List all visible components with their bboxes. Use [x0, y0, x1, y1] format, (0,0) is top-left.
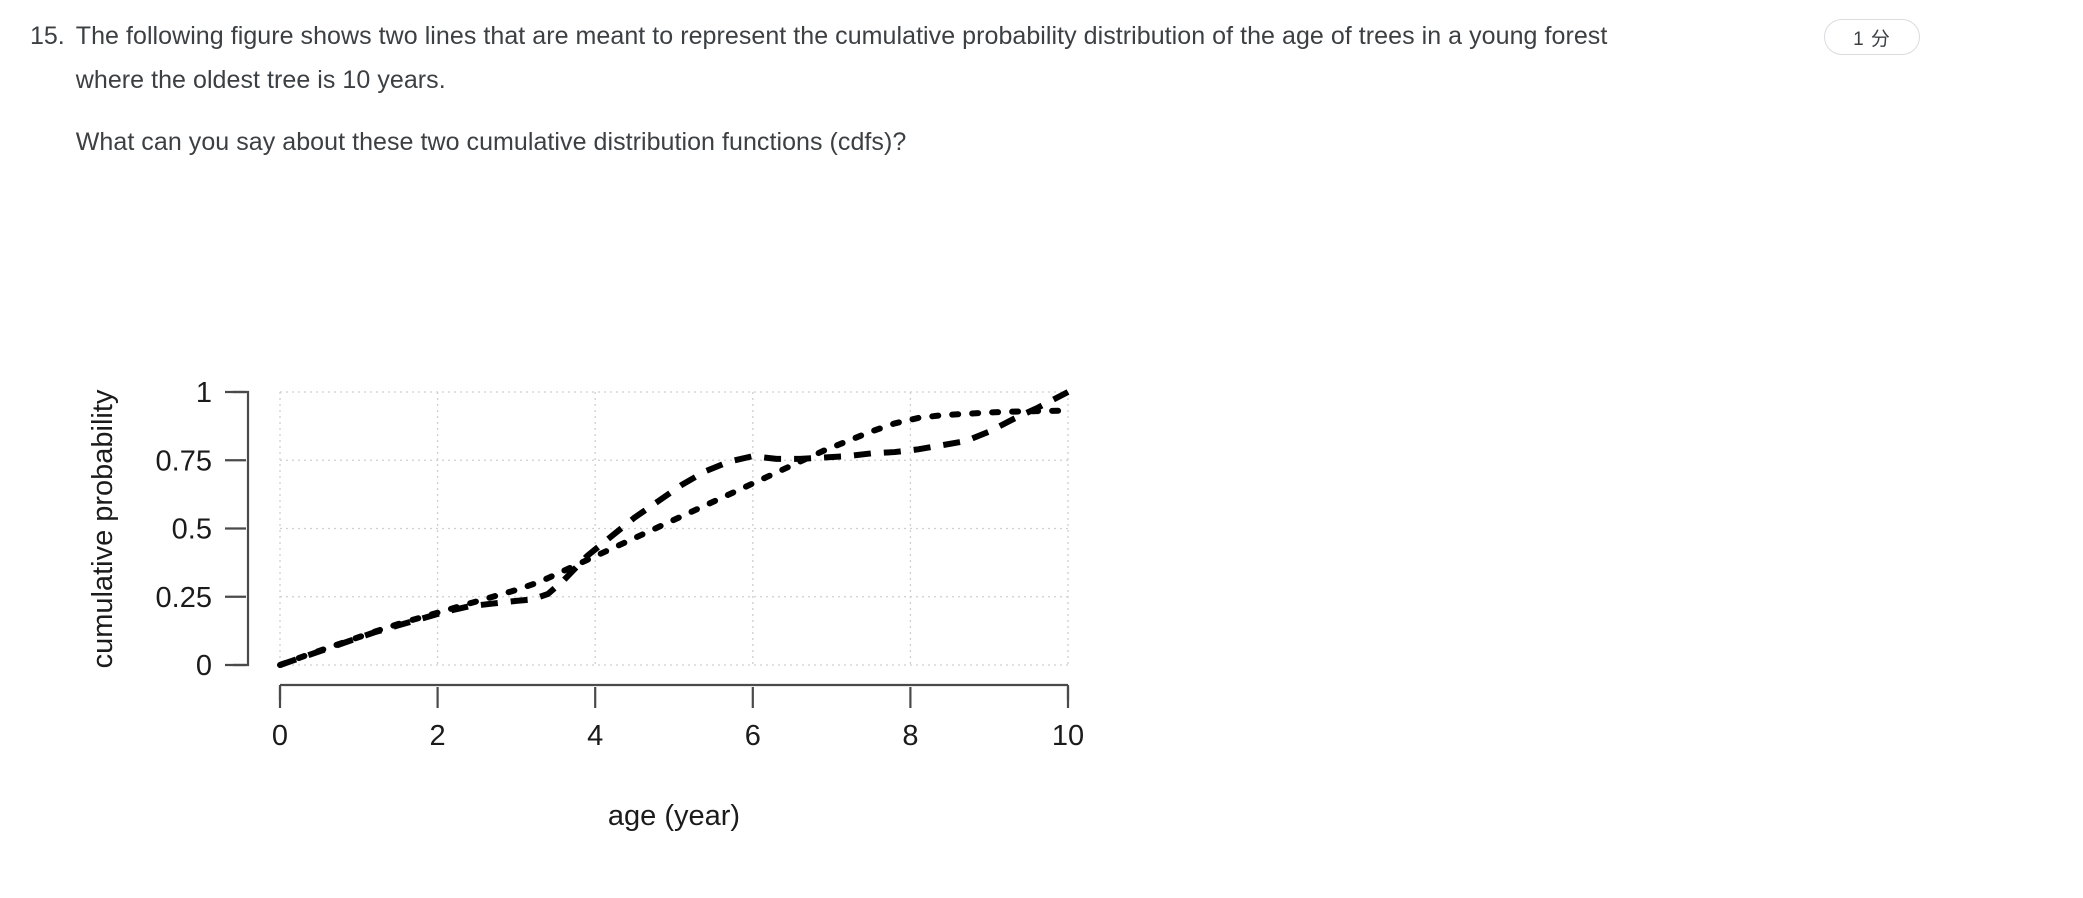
points-badge: 1 分 — [1824, 19, 1920, 55]
y-tick-label-1: 0.25 — [156, 582, 212, 614]
x-tick-label-3: 6 — [745, 720, 761, 752]
question-header: 15. The following figure shows two lines… — [30, 14, 1730, 164]
series-cdf-dotted — [280, 411, 1068, 665]
cdf-chart: 00.250.50.751 0246810 age (year) cumulat… — [0, 330, 1200, 870]
question-number: 15. — [30, 14, 65, 58]
question-body: The following figure shows two lines tha… — [76, 14, 1636, 164]
x-tick-label-1: 2 — [430, 720, 446, 752]
x-axis-title: age (year) — [608, 800, 740, 832]
question-prompt: What can you say about these two cumulat… — [76, 120, 1636, 164]
y-tick-label-3: 0.75 — [156, 445, 212, 477]
y-tick-label-4: 1 — [196, 377, 212, 409]
x-tick-label-2: 4 — [587, 720, 603, 752]
x-tick-label-5: 10 — [1052, 720, 1084, 752]
x-tick-label-0: 0 — [272, 720, 288, 752]
x-axis-ticks — [280, 687, 1068, 708]
y-tick-label-2: 0.5 — [172, 514, 212, 546]
y-axis-tick-labels: 00.250.50.751 — [156, 377, 212, 682]
x-axis-line — [280, 685, 1068, 700]
cdf-figure: 00.250.50.751 0246810 age (year) cumulat… — [0, 330, 1200, 870]
question-card: 15. The following figure shows two lines… — [0, 0, 2083, 898]
question-statement: The following figure shows two lines tha… — [76, 14, 1636, 102]
y-axis-title: cumulative probability — [87, 389, 119, 668]
x-axis-tick-labels: 0246810 — [272, 720, 1084, 752]
y-tick-label-0: 0 — [196, 650, 212, 682]
x-tick-label-4: 8 — [902, 720, 918, 752]
cdf-series-layer — [280, 392, 1068, 665]
y-axis-ticks — [225, 392, 246, 665]
